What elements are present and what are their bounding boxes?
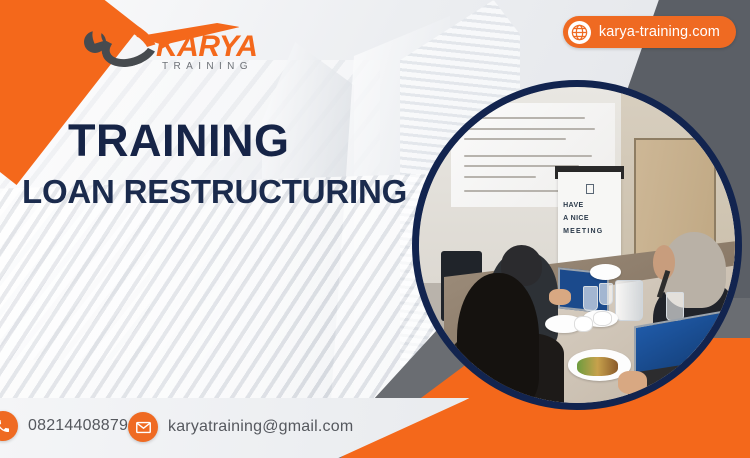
poster-line-2: A NICE bbox=[563, 215, 589, 222]
photo-person-left-hair bbox=[457, 273, 539, 403]
page-title: TRAINING bbox=[68, 118, 290, 163]
photo-glass-1 bbox=[583, 286, 597, 311]
page-subtitle: LOAN RESTRUCTURING bbox=[22, 175, 407, 208]
photo-food bbox=[577, 357, 618, 376]
photo-hand-front bbox=[618, 371, 646, 393]
photo-hotel-logo-icon bbox=[586, 184, 594, 194]
logo-tagline: TRAINING bbox=[162, 61, 253, 72]
photo-glass-3 bbox=[666, 292, 685, 320]
photo-cup-2 bbox=[593, 311, 612, 325]
karya-training-logo[interactable]: KARYA TRAINING bbox=[84, 14, 274, 72]
globe-icon bbox=[568, 21, 591, 44]
meeting-photo-circle: HAVE A NICE MEETING bbox=[412, 80, 742, 410]
photo-water-jug bbox=[615, 280, 643, 321]
contact-email[interactable]: karyatraining@gmail.com bbox=[128, 412, 353, 442]
email-address-label: karyatraining@gmail.com bbox=[168, 418, 353, 436]
phone-number-label: 082144088796 bbox=[28, 417, 137, 435]
photo-plate-5 bbox=[590, 264, 622, 280]
website-badge[interactable]: karya-training.com bbox=[563, 16, 736, 48]
promo-banner: KARYA TRAINING karya-training.com TRAINI… bbox=[0, 0, 750, 458]
contact-phone[interactable]: 082144088796 bbox=[0, 411, 137, 441]
logo-swoosh-orange-icon bbox=[84, 8, 166, 80]
photo-hand-center bbox=[549, 289, 571, 305]
photo-cup-1 bbox=[574, 316, 593, 332]
poster-line-1: HAVE bbox=[563, 202, 584, 209]
poster-line-3: MEETING bbox=[563, 228, 603, 235]
logo-wordmark: KARYA bbox=[156, 30, 257, 64]
phone-icon bbox=[0, 411, 18, 441]
photo-glass-2 bbox=[599, 283, 613, 305]
envelope-icon bbox=[128, 412, 158, 442]
website-url-label: karya-training.com bbox=[599, 24, 720, 40]
meeting-photo: HAVE A NICE MEETING bbox=[419, 87, 735, 403]
